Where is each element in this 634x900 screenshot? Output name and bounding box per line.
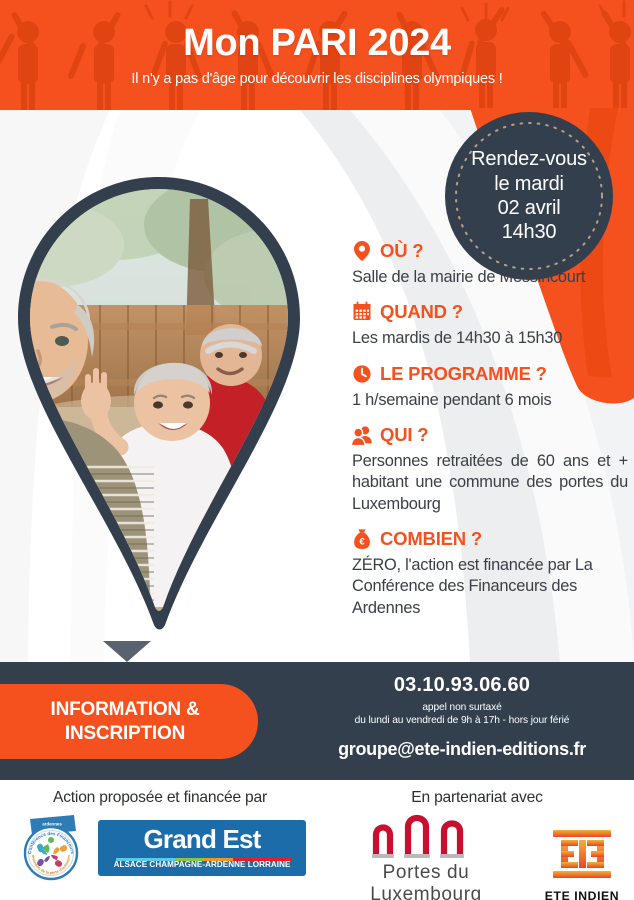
info-head-ou: OÙ ? — [352, 240, 628, 262]
contact-notch-decoration — [103, 641, 151, 662]
basketball — [0, 479, 68, 611]
info-value-programme: 1 h/semaine pendant 6 mois — [352, 390, 628, 411]
info-label-ou: OÙ ? — [380, 240, 423, 262]
info-value-ou: Salle de la mairie de Messincourt — [352, 267, 628, 288]
info-block-qui: QUI ? Personnes retraitées de 60 ans et … — [352, 424, 628, 515]
info-label-combien: COMBIEN ? — [380, 528, 482, 550]
photo-map-pin — [0, 155, 324, 655]
info-list: OÙ ? Salle de la mairie de Messincourt — [352, 240, 628, 632]
date-line-3: 02 avril — [498, 196, 561, 220]
date-line-1: Rendez-vous — [471, 147, 587, 171]
footer-left-logos: ardennes Conférence des Financeurs Préve… — [0, 813, 320, 883]
ete-indien-mark-icon — [549, 828, 615, 880]
poster-root: Mon PARI 2024 Il n'y a pas d'âge pour dé… — [0, 0, 634, 900]
calendar-icon — [352, 301, 372, 323]
info-label-programme: LE PROGRAMME ? — [380, 363, 547, 385]
svg-text:ardennes: ardennes — [42, 822, 62, 827]
svg-text:€: € — [359, 535, 365, 546]
info-value-quand: Les mardis de 14h30 à 15h30 — [352, 328, 628, 349]
ete-indien-logo: ETE INDIEN — [536, 828, 628, 900]
date-line-2: le mardi — [494, 172, 564, 196]
email-address[interactable]: groupe@ete-indien-editions.fr — [290, 739, 634, 760]
info-head-combien: € COMBIEN ? — [352, 528, 628, 550]
contact-bar: INFORMATION & INSCRIPTION 03.10.93.06.60… — [0, 662, 634, 780]
money-bag-euro-icon: € — [352, 528, 372, 550]
people-icon — [352, 424, 372, 446]
info-label-quand: QUAND ? — [380, 301, 463, 323]
info-block-ou: OÙ ? Salle de la mairie de Messincourt — [352, 240, 628, 288]
information-inscription-pill[interactable]: INFORMATION & INSCRIPTION — [0, 684, 258, 759]
information-inscription-label: INFORMATION & INSCRIPTION — [50, 698, 199, 744]
phone-note-hours: du lundi au vendredi de 9h à 17h - hors … — [290, 715, 634, 726]
grand-est-color-rule — [116, 858, 292, 861]
portes-du-luxembourg-name: Portes du Luxembourg — [326, 862, 526, 900]
footer-right-logos: Portes du Luxembourg Communauté de Commu… — [320, 813, 634, 900]
map-pin-icon — [352, 240, 372, 262]
phone-note-surtaxe: appel non surtaxé — [290, 702, 634, 713]
footer-caption-funded: Action proposée et financée par — [0, 780, 320, 807]
info-value-combien: ZÉRO, l'action est financée par La Confé… — [352, 555, 628, 619]
ete-indien-name: ETE INDIEN — [536, 889, 628, 900]
info-head-qui: QUI ? — [352, 424, 628, 446]
footer-funders-column: Action proposée et financée par ardennes… — [0, 780, 320, 883]
info-head-programme: LE PROGRAMME ? — [352, 363, 628, 385]
info-block-combien: € COMBIEN ? ZÉRO, l'action est financée … — [352, 528, 628, 619]
poster-header: Mon PARI 2024 Il n'y a pas d'âge pour dé… — [0, 0, 634, 110]
poster-footer: Action proposée et financée par ardennes… — [0, 780, 634, 900]
contact-details: 03.10.93.06.60 appel non surtaxé du lund… — [290, 674, 634, 760]
grand-est-logo: Grand Est ALSACE CHAMPAGNE-ARDENNE LORRA… — [98, 820, 306, 876]
footer-partners-column: En partenariat avec — [320, 780, 634, 900]
info-block-quand: QUAND ? Les mardis de 14h30 à 15h30 — [352, 301, 628, 349]
page-title: Mon PARI 2024 — [183, 24, 451, 62]
page-subtitle: Il n'y a pas d'âge pour découvrir les di… — [131, 71, 502, 87]
footer-caption-partnership: En partenariat avec — [320, 780, 634, 807]
info-block-programme: LE PROGRAMME ? 1 h/semaine pendant 6 moi… — [352, 363, 628, 411]
grand-est-name: Grand Est — [143, 826, 260, 852]
phone-number[interactable]: 03.10.93.06.60 — [290, 674, 634, 697]
header-text-group: Mon PARI 2024 Il n'y a pas d'âge pour dé… — [0, 0, 634, 110]
clock-icon — [352, 363, 372, 385]
info-label-qui: QUI ? — [380, 424, 428, 446]
conference-des-financeurs-logo: ardennes Conférence des Financeurs Préve… — [14, 813, 88, 883]
portes-arches-icon — [350, 813, 502, 859]
info-head-quand: QUAND ? — [352, 301, 628, 323]
portes-du-luxembourg-logo: Portes du Luxembourg Communauté de Commu… — [326, 813, 526, 900]
info-value-qui: Personnes retraitées de 60 ans et + habi… — [352, 451, 628, 515]
